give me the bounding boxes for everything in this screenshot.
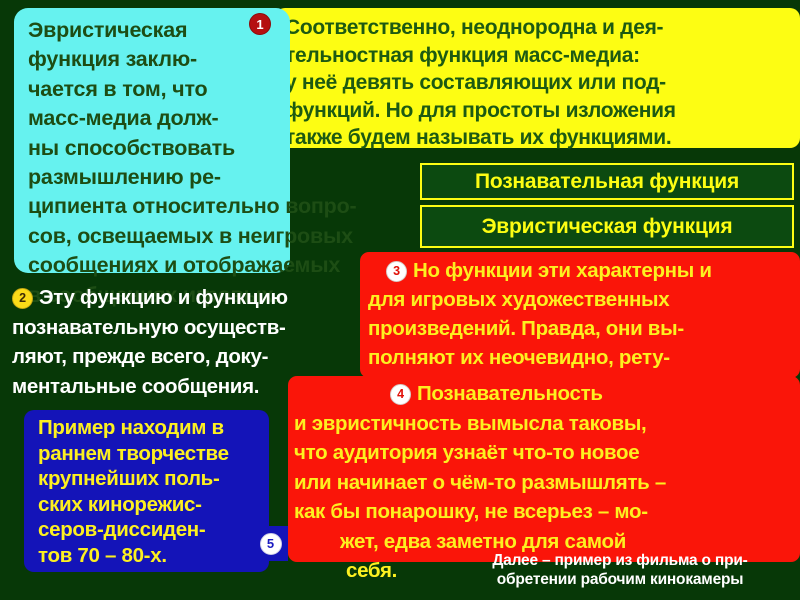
footer-note: Далее – пример из фильма о при- обретени… <box>440 551 800 589</box>
activity-line-4: функций. Но для простоты изложения <box>285 97 792 125</box>
red2-line-3: что аудитория узнаёт что-то новое <box>294 438 794 468</box>
artistic-works-panel: 3Но функции эти характерны и для игровых… <box>360 252 800 378</box>
step-marker-3: 3 <box>386 261 407 282</box>
polish-directors-panel: Пример находим в раннем творчестве крупн… <box>24 410 269 572</box>
step-marker-5: 5 <box>260 533 282 555</box>
heuristic-line-4: масс-медиа долж- <box>28 104 280 133</box>
blue-line-2: раннем творчестве <box>38 441 261 467</box>
red2-line-5: как бы понарошку, не всерьез – мо- <box>294 497 794 527</box>
label-heuristic-function[interactable]: Эвристическая функция <box>420 205 794 248</box>
heuristic-line-8: сов, освещаемых в неигровых <box>28 222 280 251</box>
blue-line-1: Пример находим в <box>38 415 261 441</box>
presentation-slide: Соответственно, неоднородна и дея- тельн… <box>0 0 800 600</box>
heuristic-line-6: размышлению ре- <box>28 163 280 192</box>
step-marker-4: 4 <box>390 384 411 405</box>
heuristic-line-1: Эвристическая <box>28 16 280 45</box>
footer-line-2: обретении рабочим кинокамеры <box>440 570 800 589</box>
heuristic-function-panel: Эвристическая функция заклю- чается в то… <box>14 8 290 273</box>
red1-line-2: для игровых художественных <box>368 285 794 314</box>
heuristic-line-5: ны способствовать <box>28 134 280 163</box>
heuristic-line-9: сообщениях и отображаемых <box>28 251 280 280</box>
step-marker-1: 1 <box>249 13 271 35</box>
step-marker-5-container: 5 <box>253 526 288 561</box>
activity-function-panel: Соответственно, неоднородна и дея- тельн… <box>275 8 800 148</box>
documentary-line-1-text: Эту функцию и функцию <box>39 286 288 309</box>
blue-line-5: серов-диссиден- <box>38 517 261 543</box>
red2-line-1: 4Познавательность <box>294 379 794 409</box>
step-marker-2: 2 <box>12 288 33 309</box>
cognition-fiction-panel: 4Познавательность и эвристичность вымысл… <box>288 376 800 562</box>
blue-line-3: крупнейших поль- <box>38 466 261 492</box>
blue-line-6: тов 70 – 80-х. <box>38 543 261 569</box>
documentary-line-2: познавательную осуществ- <box>12 313 372 343</box>
documentary-line-3: ляют, прежде всего, доку- <box>12 342 372 372</box>
red2-line-2: и эвристичность вымысла таковы, <box>294 409 794 439</box>
heuristic-line-3: чается в том, что <box>28 75 280 104</box>
documentary-line-1: 2Эту функцию и функцию <box>12 283 372 313</box>
activity-line-3: у неё девять составляющих или под- <box>285 69 792 97</box>
heuristic-line-7: ципиента относительно вопро- <box>28 192 280 221</box>
heuristic-line-2: функция заклю- <box>28 45 280 74</box>
red1-line-1-text: Но функции эти характерны и <box>413 259 712 282</box>
blue-line-4: ских кинорежис- <box>38 492 261 518</box>
red1-line-1: 3Но функции эти характерны и <box>368 256 794 285</box>
red2-line-1-text: Познавательность <box>417 382 603 405</box>
red1-line-4: полняют их неочевидно, рету- <box>368 343 794 372</box>
footer-line-1: Далее – пример из фильма о при- <box>440 551 800 570</box>
activity-line-2: тельностная функция масс-медиа: <box>285 42 792 70</box>
activity-line-1: Соответственно, неоднородна и дея- <box>285 14 792 42</box>
activity-line-5: также будем называть их функциями. <box>285 124 792 152</box>
red2-line-4: или начинает о чём-то размышлять – <box>294 468 794 498</box>
label-cognitive-function[interactable]: Познавательная функция <box>420 163 794 200</box>
red1-line-3: произведений. Правда, они вы- <box>368 314 794 343</box>
